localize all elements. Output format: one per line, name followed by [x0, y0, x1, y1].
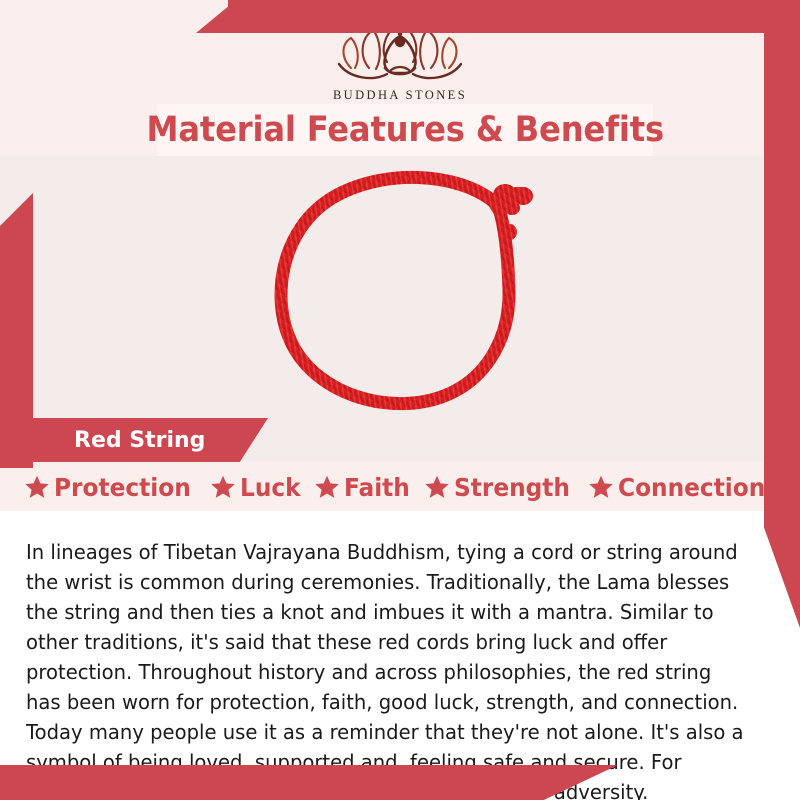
- logo-head-dot: [395, 37, 405, 47]
- benefit-label: Strength: [454, 473, 570, 502]
- benefit-item: Strength: [424, 473, 579, 502]
- description-text: In lineages of Tibetan Vajrayana Buddhis…: [26, 537, 744, 800]
- brand-name: BUDDHA STONES: [333, 88, 467, 103]
- benefit-label: Luck: [240, 473, 301, 502]
- red-string-bracelet-image: [262, 160, 552, 425]
- product-image-panel: [0, 156, 800, 462]
- page-title-banner: Material Features & Benefits: [158, 104, 653, 156]
- star-icon: [24, 474, 50, 500]
- star-icon: [588, 474, 614, 500]
- frame-bottom-bar: [0, 765, 618, 800]
- product-label: Red String: [74, 428, 205, 453]
- infographic-poster: BUDDHA STONES Material Features & Benefi…: [0, 0, 800, 800]
- benefit-label: Connection: [618, 473, 765, 502]
- benefit-item: Protection: [24, 473, 201, 502]
- benefit-item: Luck: [210, 473, 305, 502]
- benefit-item: Faith: [314, 473, 415, 502]
- benefits-row: Protection Luck Faith Strength Connectio…: [0, 463, 800, 511]
- star-icon: [314, 474, 340, 500]
- star-icon: [210, 474, 236, 500]
- benefit-label: Protection: [54, 473, 191, 502]
- page-title: Material Features & Benefits: [147, 110, 664, 150]
- frame-right-bar: [764, 0, 800, 628]
- frame-top-bar: [228, 0, 764, 33]
- frame-left-bar: [0, 193, 33, 468]
- description-panel: In lineages of Tibetan Vajrayana Buddhis…: [0, 511, 800, 800]
- benefit-item: Connection: [588, 473, 776, 502]
- star-icon: [424, 474, 450, 500]
- benefit-label: Faith: [344, 473, 410, 502]
- product-label-banner: Red String: [33, 418, 268, 462]
